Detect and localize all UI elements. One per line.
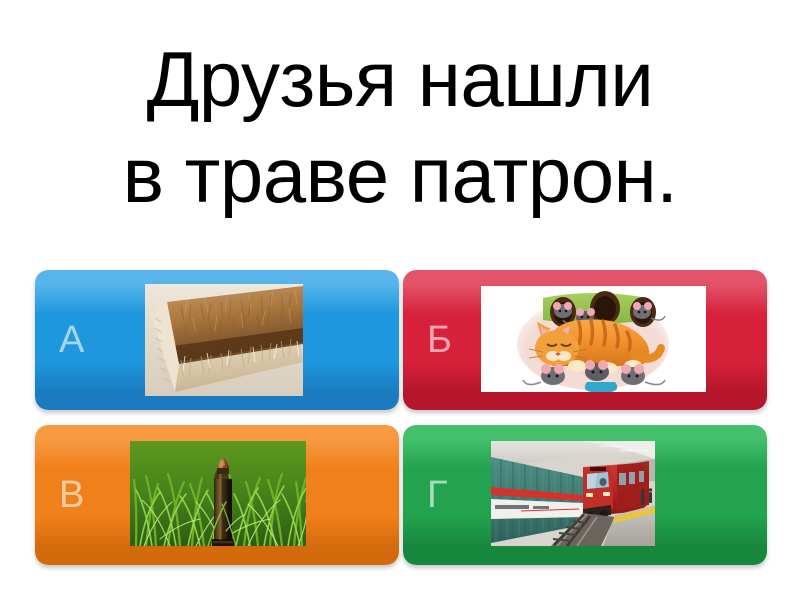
answer-option-b[interactable]: Б — [403, 270, 767, 410]
answer-letter-d: Г — [427, 425, 497, 565]
answer-option-d[interactable]: Г — [403, 425, 767, 565]
cat-sleeping-with-mice-cartoon — [481, 286, 706, 392]
question-line-1: Друзья нашли — [147, 31, 654, 127]
carpet-rug-photo — [145, 284, 303, 396]
answer-option-c[interactable]: В — [35, 425, 399, 565]
answer-letter-a: А — [59, 270, 129, 410]
metro-subway-train-photo — [491, 441, 655, 546]
answer-letter-c: В — [59, 425, 129, 565]
answer-options-grid: А — [35, 270, 767, 565]
question-line-2: в траве патрон. — [123, 127, 678, 223]
bullet-cartridge-in-grass-photo — [130, 441, 306, 546]
question-block: Друзья нашли в траве патрон. — [0, 14, 800, 239]
answer-option-a[interactable]: А — [35, 270, 399, 410]
answer-letter-b: Б — [427, 270, 497, 410]
